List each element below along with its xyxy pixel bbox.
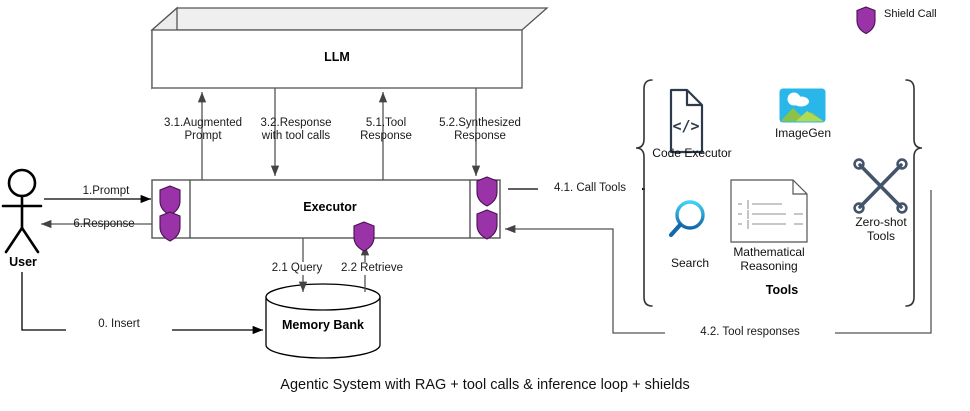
llm-label: LLM xyxy=(152,50,522,64)
edge-label-retrieve: 2.2 Retrieve xyxy=(330,262,414,275)
edge-label-call-tools: 4.1. Call Tools xyxy=(538,182,642,195)
tools-group-label: Tools xyxy=(737,283,827,297)
edge-label-tool-responses: 4.2. Tool responses xyxy=(665,326,835,339)
tool-label-search: Search xyxy=(658,256,722,270)
shield-icon-legend xyxy=(857,7,875,34)
tool-label-code-executor: Code Executor xyxy=(646,146,738,160)
edge-label-prompt: 1.Prompt xyxy=(60,185,152,198)
memory-bank-label: Memory Bank xyxy=(266,318,380,332)
tool-label-zero-shot: Zero-shot Tools xyxy=(841,215,921,243)
image-picture-icon xyxy=(780,89,825,122)
edge-label-query: 2.1 Query xyxy=(258,262,336,275)
edge-label-synthesized-response: 5.2.Synthesized Response xyxy=(425,117,535,143)
diagram-caption: Agentic System with RAG + tool calls & i… xyxy=(0,377,970,393)
crossed-wrenches-icon xyxy=(855,160,907,213)
executor-label: Executor xyxy=(190,200,470,214)
legend-label-shield-call: Shield Call xyxy=(884,8,937,20)
svg-text:</>: </> xyxy=(672,117,699,135)
formula-document-icon xyxy=(731,180,807,242)
user-label: User xyxy=(0,255,46,269)
edge-label-insert: 0. Insert xyxy=(66,318,172,331)
shield-icon-exec-bottom-center xyxy=(354,222,374,251)
code-document-icon: </> xyxy=(671,90,702,152)
edge-label-tool-response: 5.1.Tool Response xyxy=(340,117,432,143)
llm-node xyxy=(152,8,547,88)
magnifier-icon xyxy=(671,202,703,235)
edge-label-response-with-tool-calls: 3.2.Response with tool calls xyxy=(235,117,357,143)
diagram-canvas: </> xyxy=(0,0,970,411)
tool-label-imagegen: ImageGen xyxy=(762,126,844,140)
tool-label-math-reasoning: Mathematical Reasoning xyxy=(727,245,811,273)
user-node xyxy=(3,170,41,252)
edge-label-response: 6.Response xyxy=(56,218,152,231)
